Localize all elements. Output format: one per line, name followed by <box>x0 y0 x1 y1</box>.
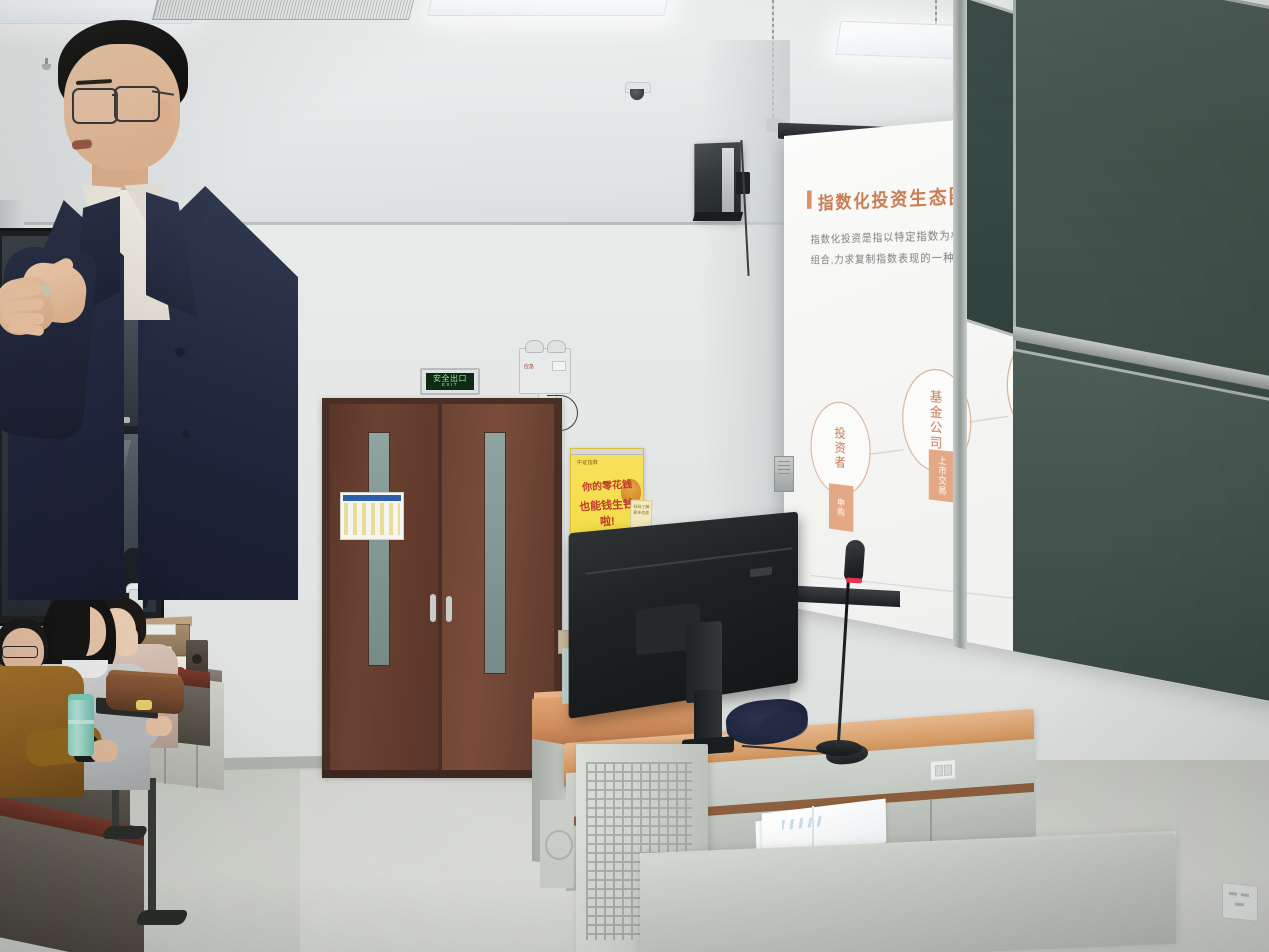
exit-sign-english: EXIT <box>442 383 458 388</box>
fire-sprinkler-icon <box>42 58 51 71</box>
dome-security-camera <box>625 82 649 102</box>
speaker-base <box>693 212 744 221</box>
diagram-tag-orange: 申购 <box>829 483 853 532</box>
screen-suspension-chain <box>935 0 937 24</box>
eyeglasses-bridge <box>112 94 118 96</box>
door-vision-panel <box>484 432 506 674</box>
thermos-highlight <box>68 720 94 724</box>
door-sill <box>322 770 562 778</box>
door-handle[interactable] <box>446 596 452 622</box>
microphone-status-indicator <box>846 577 862 583</box>
banner-side-tag-text: 扫码了解 更多信息 <box>633 504 651 516</box>
mint-thermos-bottle[interactable] <box>68 700 94 756</box>
evacuation-floor-plan <box>340 492 404 540</box>
chalkboard-panel <box>1013 348 1269 703</box>
air-conditioning-vent <box>152 0 415 20</box>
desk-foot <box>101 826 148 839</box>
jacket-button <box>182 430 190 438</box>
green-chalkboard <box>955 0 1269 636</box>
emergency-light: 应急 <box>519 348 571 394</box>
flow-connector <box>867 449 904 455</box>
banner-top-cap <box>570 448 644 455</box>
slide-title-accent-bar <box>807 190 812 209</box>
bag-contents <box>136 700 152 710</box>
wall-power-outlet[interactable] <box>930 759 956 781</box>
emergency-light-test-button[interactable] <box>552 361 566 371</box>
wall-equipment-box <box>774 456 794 492</box>
wall-power-outlet[interactable] <box>1222 882 1258 922</box>
slide-title: 指数化投资生态圈 <box>818 180 969 214</box>
gooseneck-microphone[interactable] <box>844 539 866 582</box>
desk-foot <box>135 910 189 925</box>
jacket-button <box>176 348 184 356</box>
door-handle[interactable] <box>430 594 436 622</box>
hand <box>90 740 118 762</box>
desk-leg <box>148 778 156 914</box>
chalkboard-divider-post <box>953 0 967 650</box>
door-vision-panel <box>368 432 390 666</box>
speaker-grille <box>722 148 734 216</box>
equipment-cabinet-emblem <box>545 830 573 860</box>
emergency-light-label: 应急 <box>524 363 534 370</box>
finger-ring <box>41 283 52 296</box>
ceiling-light-panel <box>427 0 670 16</box>
exit-sign: 安全出口 EXIT <box>420 368 480 395</box>
banner-brand-label: 中证指数 <box>577 459 598 466</box>
eyeglasses <box>2 646 38 658</box>
lecture-hall-scene: 安全出口 EXIT 应急 中证指数 你的零花钱 也能钱生钱啦! 扫码了解 更多信… <box>0 0 1269 952</box>
hand <box>146 716 172 736</box>
